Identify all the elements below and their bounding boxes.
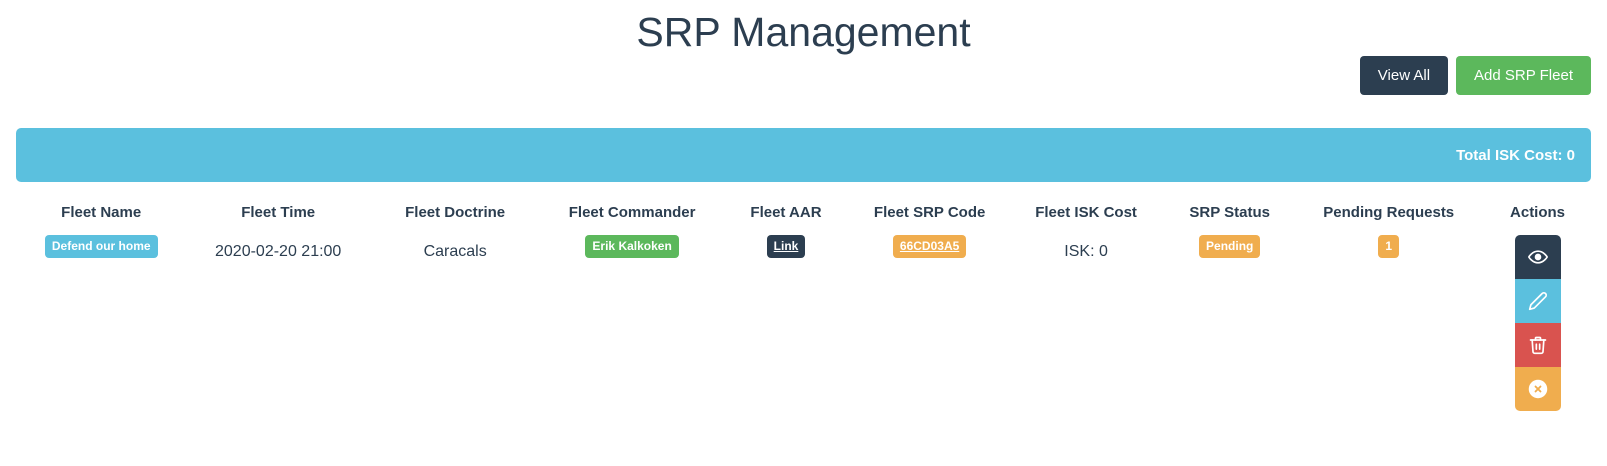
status-badge: Pending [1199,235,1260,258]
column-header-fleet-commander: Fleet Commander [542,200,722,229]
fleet-name-badge[interactable]: Defend our home [45,235,158,258]
fleet-aar-link[interactable]: Link [767,235,806,258]
column-header-actions: Actions [1481,200,1594,229]
srp-table-container: Fleet Name Fleet Time Fleet Doctrine Fle… [0,200,1607,417]
view-fleet-button[interactable] [1515,235,1561,279]
cell-fleet-aar: Link [722,229,850,417]
column-header-fleet-time: Fleet Time [188,200,368,229]
toolbar: View All Add SRP Fleet [1360,56,1591,95]
srp-fleets-table: Fleet Name Fleet Time Fleet Doctrine Fle… [14,200,1594,417]
column-header-fleet-aar: Fleet AAR [722,200,850,229]
cell-fleet-doctrine: Caracals [368,229,542,417]
circle-x-icon [1528,379,1548,399]
delete-fleet-button[interactable] [1515,323,1561,367]
cell-fleet-time: 2020-02-20 21:00 [188,229,368,417]
edit-fleet-button[interactable] [1515,279,1561,323]
eye-icon [1528,247,1548,267]
total-isk-cost-label: Total ISK Cost: 0 [1456,147,1575,164]
add-srp-fleet-button[interactable]: Add SRP Fleet [1456,56,1591,95]
fleet-doctrine-value: Caracals [424,235,487,261]
column-header-fleet-srp-code: Fleet SRP Code [850,200,1009,229]
column-header-srp-status: SRP Status [1163,200,1296,229]
srp-management-page: SRP Management View All Add SRP Fleet To… [0,0,1607,466]
column-header-pending-requests: Pending Requests [1296,200,1481,229]
fleet-isk-cost-value: ISK: 0 [1064,235,1108,261]
table-row: Defend our home 2020-02-20 21:00 Caracal… [14,229,1594,417]
cell-srp-status: Pending [1163,229,1296,417]
column-header-fleet-name: Fleet Name [14,200,188,229]
cell-actions [1481,229,1594,417]
table-header-row: Fleet Name Fleet Time Fleet Doctrine Fle… [14,200,1594,229]
action-buttons-group [1485,235,1590,411]
fleet-time-value: 2020-02-20 21:00 [215,235,341,261]
complete-fleet-button[interactable] [1515,367,1561,411]
view-all-button[interactable]: View All [1360,56,1448,95]
column-header-fleet-isk-cost: Fleet ISK Cost [1009,200,1163,229]
fleet-commander-badge[interactable]: Erik Kalkoken [585,235,678,258]
cell-fleet-name: Defend our home [14,229,188,417]
cell-pending-requests: 1 [1296,229,1481,417]
pencil-icon [1528,291,1548,311]
cell-fleet-srp-code: 66CD03A5 [850,229,1009,417]
pending-requests-badge[interactable]: 1 [1378,235,1399,258]
trash-icon [1528,335,1548,355]
total-isk-cost-bar: Total ISK Cost: 0 [16,128,1591,182]
cell-fleet-commander: Erik Kalkoken [542,229,722,417]
table-body: Defend our home 2020-02-20 21:00 Caracal… [14,229,1594,417]
fleet-srp-code-link[interactable]: 66CD03A5 [893,235,966,258]
column-header-fleet-doctrine: Fleet Doctrine [368,200,542,229]
table-header: Fleet Name Fleet Time Fleet Doctrine Fle… [14,200,1594,229]
cell-fleet-isk-cost: ISK: 0 [1009,229,1163,417]
page-title: SRP Management [0,0,1607,57]
